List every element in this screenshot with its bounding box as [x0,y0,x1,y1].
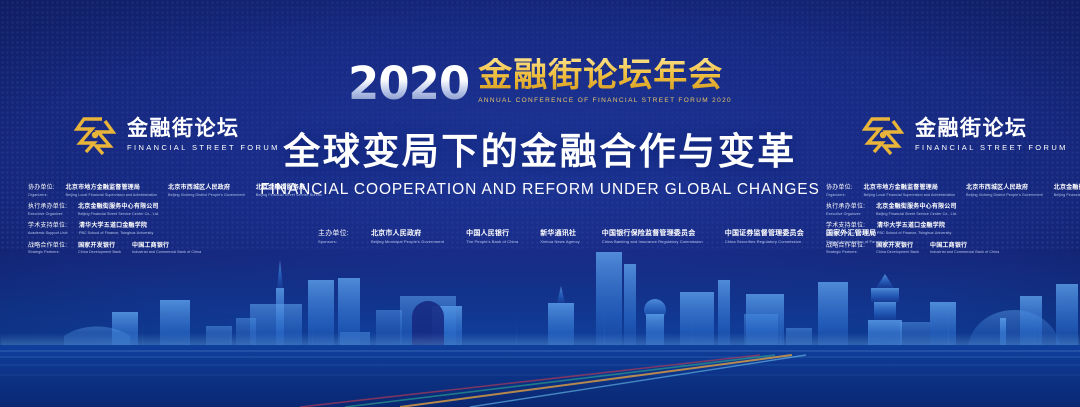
conference-title-block: 2020 金融街论坛年会 ANNUAL CONFERENCE OF FINANC… [0,58,1080,104]
credit-organization-cn: 清华大学五道口金融学院 [79,223,153,231]
credit-label-en: Academic Support Unit: [28,231,68,236]
credit-organization-en: China Securities Regulatory Commission [725,239,804,244]
credit-label-cn: 学术支持单位: [28,223,68,231]
credit-organization: 中国工商银行Industrial and Commercial Bank of … [930,243,999,255]
credit-organization: 国家开发银行China Development Bank [78,243,121,255]
credit-organization-en: Beijing Financial Street Service Bureau [256,193,322,198]
credit-label: 战略合作单位:Strategic Partners: [826,243,865,255]
credit-organization-cn: 中国证券监督管理委员会 [725,230,804,239]
credit-row: 执行承办单位:Executive Organizer:北京金融街服务中心有限公司… [826,204,1076,216]
credit-organization: 中国银行保险监督管理委员会China Banking and Insurance… [602,230,703,244]
credit-organization: 国家外汇管理局State Administration of Foreign E… [826,230,904,244]
credit-organization: 清华大学五道口金融学院PBC School of Finance, Tsingh… [79,223,153,235]
credit-label: 执行承办单位:Executive Organizer: [28,204,67,216]
credit-label-en: Sponsors: [318,239,349,244]
credit-organization-en: Beijing Municipal People's Government [371,239,444,244]
credit-row: 主办单位:Sponsors:北京市人民政府Beijing Municipal P… [318,230,780,244]
credit-organization-en: Industrial and Commercial Bank of China [132,250,201,255]
credit-label-cn: 执行承办单位: [826,204,865,212]
credit-organization-cn: 北京市西城区人民政府 [966,185,1043,193]
credit-organization-cn: 中国工商银行 [930,243,999,251]
logo-text-cn: 金融街论坛 [915,118,1068,139]
credit-organization-cn: 中国人民银行 [466,230,518,239]
credit-organization-cn: 北京金融街服务局 [1054,185,1080,193]
financial-street-forum-logo-mark [860,112,906,158]
credit-label-en: Strategic Partners: [28,250,67,255]
credit-label-cn: 执行承办单位: [28,204,67,212]
credit-row: 执行承办单位:Executive Organizer:北京金融街服务中心有限公司… [28,204,328,216]
credit-organization-cn: 中国银行保险监督管理委员会 [602,230,703,239]
credit-organization: 北京市地方金融监督管理局Beijing Local Financial Supe… [66,185,158,197]
credits-center: 主办单位:Sponsors:北京市人民政府Beijing Municipal P… [318,230,780,244]
credit-organization-en: Beijing Xicheng District People's Govern… [168,193,245,198]
credit-organization-cn: 北京市地方金融监督管理局 [66,185,158,193]
credit-organization-en: China Development Bank [78,250,121,255]
credit-label-cn: 主办单位: [318,230,349,239]
credit-organization-en: China Banking and Insurance Regulatory C… [602,239,703,244]
credit-organization: 中国工商银行Industrial and Commercial Bank of … [132,243,201,255]
credit-label: 执行承办单位:Executive Organizer: [826,204,865,216]
logo-right: 金融街论坛 FINANCIAL STREET FORUM [860,112,1068,158]
credit-label-en: Organizers: [28,193,55,198]
credit-organization: 北京市西城区人民政府Beijing Xicheng District Peopl… [168,185,245,197]
credit-organization-en: Beijing Local Financial Supervision and … [864,193,956,198]
credit-organization: 北京市地方金融监督管理局Beijing Local Financial Supe… [864,185,956,197]
credit-label-en: Executive Organizer: [28,212,67,217]
credit-organization-en: Beijing Local Financial Supervision and … [66,193,158,198]
credit-row: 战略合作单位:Strategic Partners:国家开发银行China De… [28,243,328,255]
credit-label-en: Strategic Partners: [826,250,865,255]
credit-organization-en: Industrial and Commercial Bank of China [930,250,999,255]
financial-street-forum-logo-mark [72,112,118,158]
credit-organization-cn: 北京市地方金融监督管理局 [864,185,956,193]
credit-organization-cn: 中国工商银行 [132,243,201,251]
credit-organization: 北京金融街服务局Beijing Financial Street Service… [1054,185,1080,197]
credit-label-cn: 协办单位: [826,185,853,193]
credit-organization: 新华通讯社Xinhua News Agency [540,230,580,244]
credit-label: 协办单位:Organizers: [826,185,853,197]
credit-organization: 北京市西城区人民政府Beijing Xicheng District Peopl… [966,185,1043,197]
credit-organization-cn: 北京金融街服务局 [256,185,322,193]
credit-label-cn: 协办单位: [28,185,55,193]
credit-organization-en: Beijing Xicheng District People's Govern… [966,193,1043,198]
credit-organization: 中国人民银行The People's Bank of China [466,230,518,244]
credit-organization-en: State Administration of Foreign Exchange [826,239,904,244]
credit-label-en: Organizers: [826,193,853,198]
credit-row: 协办单位:Organizers:北京市地方金融监督管理局Beijing Loca… [826,185,1076,197]
conference-backdrop: 2020 金融街论坛年会 ANNUAL CONFERENCE OF FINANC… [0,0,1080,407]
credit-organization-cn: 北京市西城区人民政府 [168,185,245,193]
credit-organization-en: The People's Bank of China [466,239,518,244]
logo-left: 金融街论坛 FINANCIAL STREET FORUM [72,112,280,158]
credit-organization-en: Beijing Financial Street Service Bureau [1054,193,1080,198]
credit-organization: 北京金融街服务中心有限公司Beijing Financial Street Se… [78,204,159,216]
credit-label-cn: 战略合作单位: [28,243,67,251]
credit-organization-cn: 国家开发银行 [78,243,121,251]
credit-organization-cn: 国家外汇管理局 [826,230,904,239]
credit-organization-en: China Development Bank [876,250,919,255]
credit-row: 协办单位:Organizers:北京市地方金融监督管理局Beijing Loca… [28,185,328,197]
credit-label: 战略合作单位:Strategic Partners: [28,243,67,255]
logo-text-en: FINANCIAL STREET FORUM [915,143,1068,152]
credit-label-en: Executive Organizer: [826,212,865,217]
credit-organization-en: Beijing Financial Street Service Center … [876,212,957,217]
credit-organization-cn: 北京金融街服务中心有限公司 [876,204,957,212]
credit-organization: 北京市人民政府Beijing Municipal People's Govern… [371,230,444,244]
credit-organization-cn: 北京金融街服务中心有限公司 [78,204,159,212]
logo-text-en: FINANCIAL STREET FORUM [127,143,280,152]
credits-left: 协办单位:Organizers:北京市地方金融监督管理局Beijing Loca… [28,185,328,255]
credit-organization: 北京金融街服务局Beijing Financial Street Service… [256,185,322,197]
credit-organization-en: Beijing Financial Street Service Center … [78,212,159,217]
credit-organization-cn: 新华通讯社 [540,230,580,239]
credit-organization-en: Xinhua News Agency [540,239,580,244]
credit-organization: 国家开发银行China Development Bank [876,243,919,255]
credit-organization: 北京金融街服务中心有限公司Beijing Financial Street Se… [876,204,957,216]
credit-label: 协办单位:Organizers: [28,185,55,197]
credit-organization-cn: 北京市人民政府 [371,230,444,239]
conference-title-en: ANNUAL CONFERENCE OF FINANCIAL STREET FO… [478,97,732,104]
conference-title-cn: 金融街论坛年会 [478,58,723,92]
credit-organization: 中国证券监督管理委员会China Securities Regulatory C… [725,230,804,244]
credits-right: 协办单位:Organizers:北京市地方金融监督管理局Beijing Loca… [826,185,1076,255]
logo-text-cn: 金融街论坛 [127,118,280,139]
credit-row: 战略合作单位:Strategic Partners:国家开发银行China De… [826,243,1076,255]
year-2020: 2020 [348,63,469,104]
credit-row: 学术支持单位:Academic Support Unit:清华大学五道口金融学院… [28,223,328,235]
credit-label: 学术支持单位:Academic Support Unit: [28,223,68,235]
credit-organization-en: PBC School of Finance, Tsinghua Universi… [79,231,153,236]
credit-label: 主办单位:Sponsors: [318,230,349,244]
perspective-ground [0,345,1080,407]
